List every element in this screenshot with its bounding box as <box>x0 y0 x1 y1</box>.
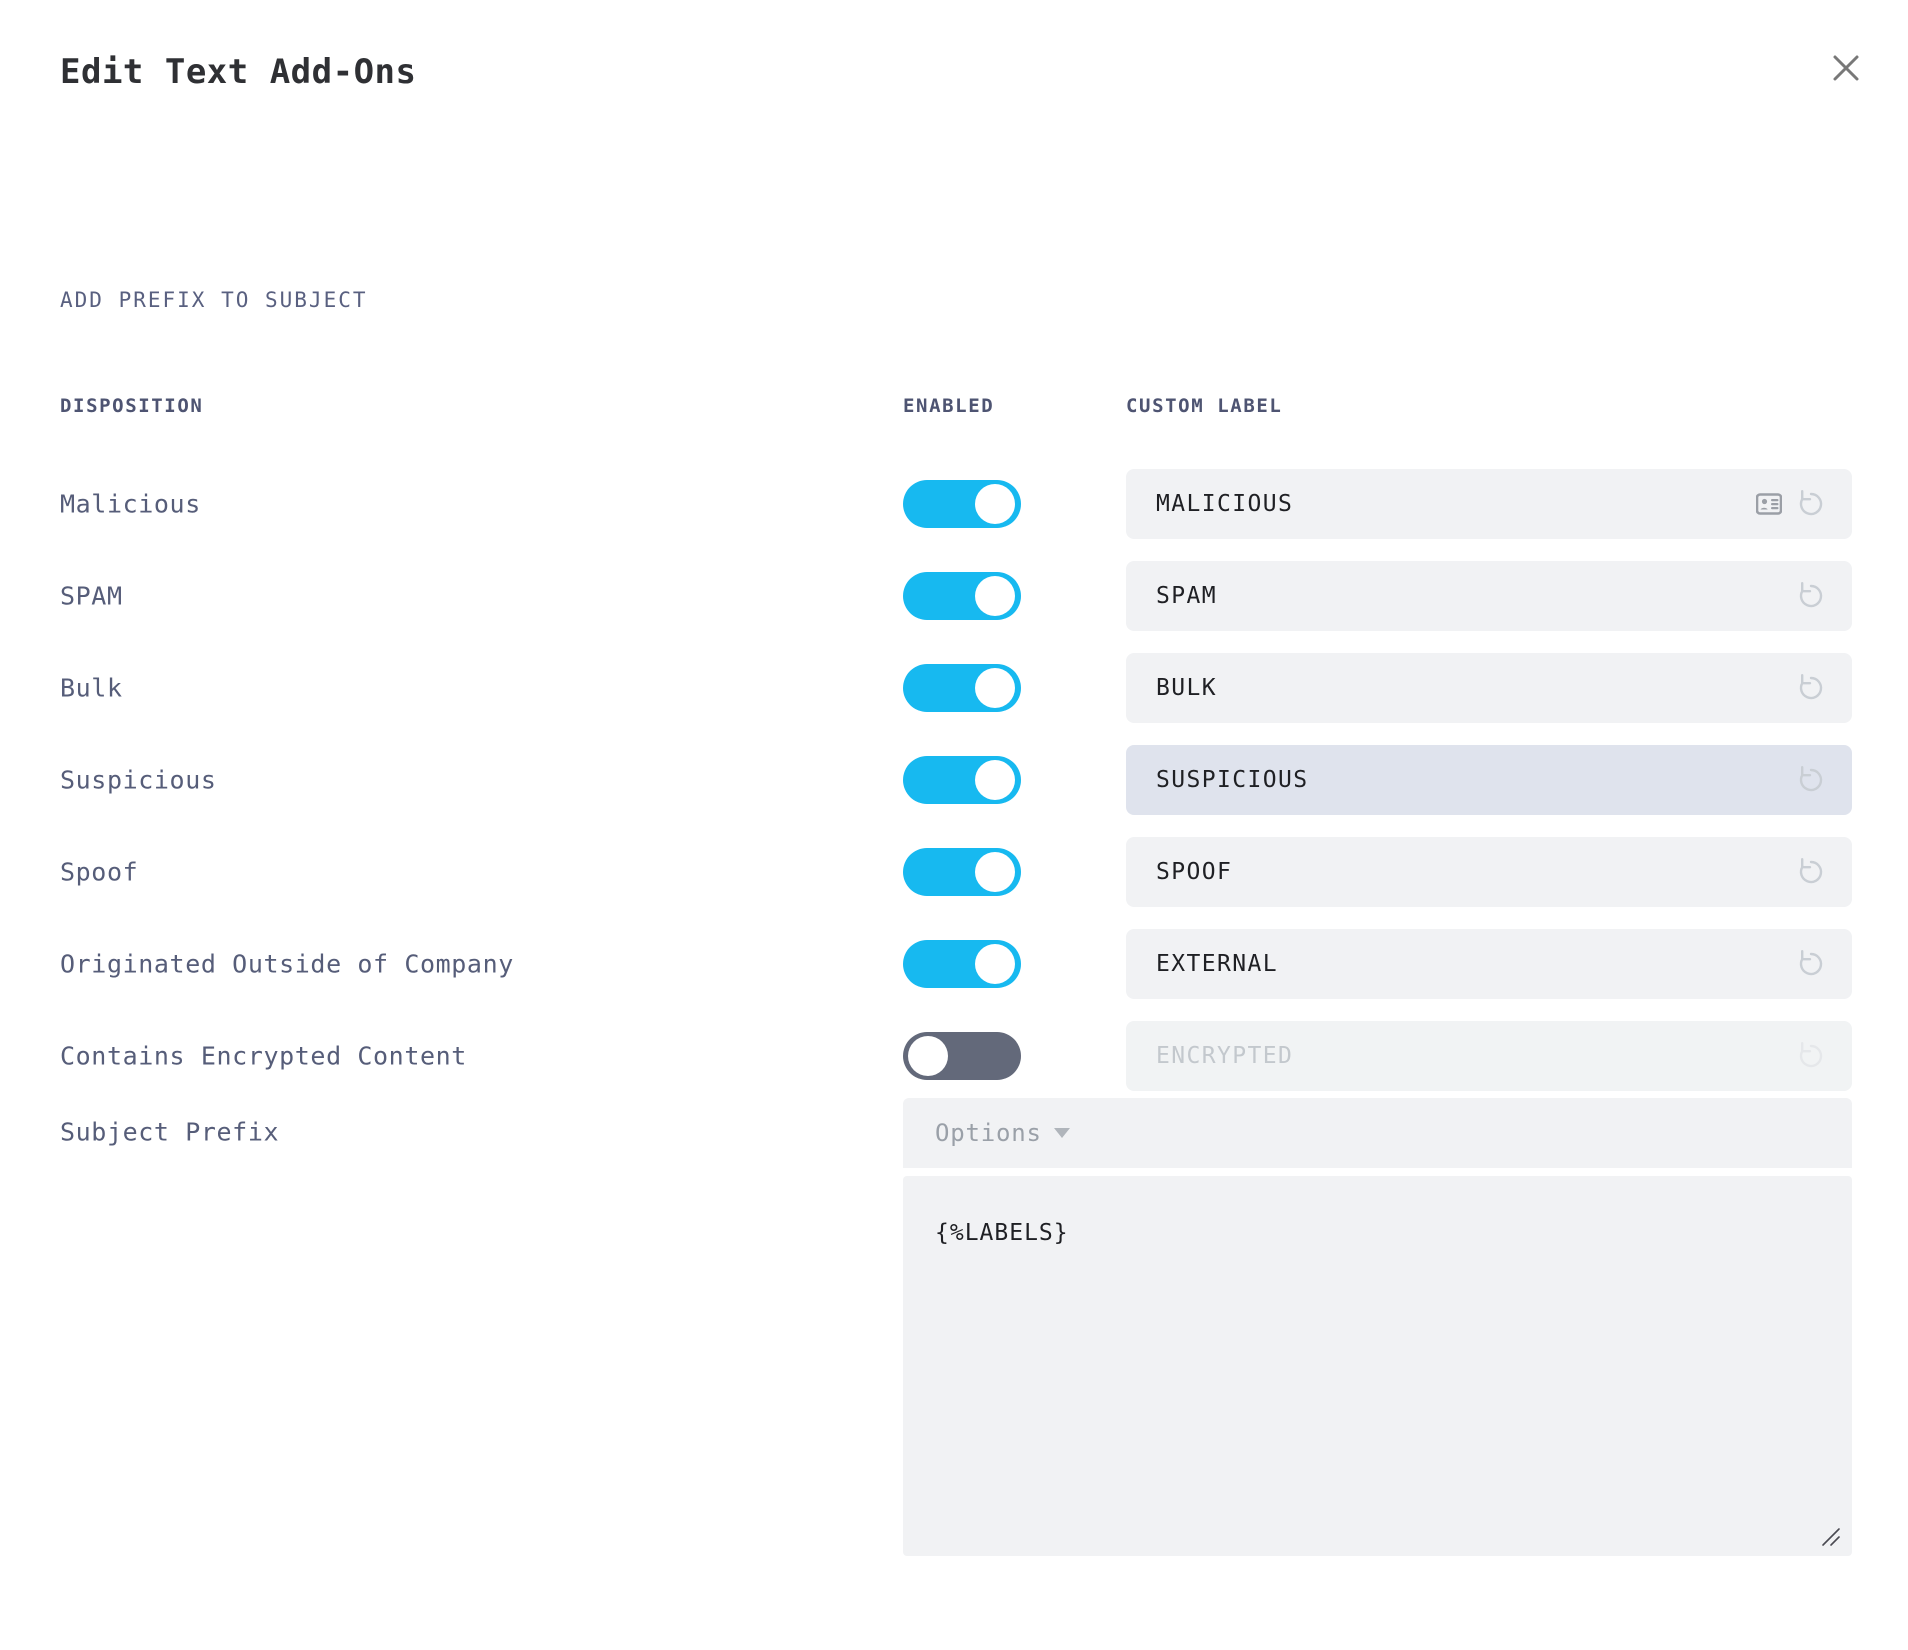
column-header-enabled: ENABLED <box>903 395 994 417</box>
resize-grip-icon[interactable] <box>1820 1526 1842 1548</box>
close-button[interactable] <box>1818 40 1874 96</box>
column-header-disposition: DISPOSITION <box>60 395 203 417</box>
toggle-knob <box>975 944 1015 984</box>
table-row: SuspiciousSUSPICIOUS <box>0 734 1908 826</box>
section-heading: ADD PREFIX TO SUBJECT <box>60 288 368 312</box>
enabled-toggle[interactable] <box>903 572 1021 620</box>
custom-label-value: SUSPICIOUS <box>1126 767 1794 793</box>
custom-label-value: SPOOF <box>1126 859 1794 885</box>
disposition-label: Bulk <box>60 674 123 703</box>
table-row: SpoofSPOOF <box>0 826 1908 918</box>
edit-text-addons-dialog: Edit Text Add-Ons ADD PREFIX TO SUBJECT … <box>0 0 1908 1650</box>
chevron-down-icon <box>1054 1128 1070 1138</box>
toggle-knob <box>975 760 1015 800</box>
custom-label-value: EXTERNAL <box>1126 951 1794 977</box>
disposition-label: Suspicious <box>60 766 217 795</box>
field-icon-group <box>1794 671 1852 705</box>
subject-prefix-label: Subject Prefix <box>60 1118 279 1147</box>
custom-label-input[interactable]: SPAM <box>1126 561 1852 631</box>
table-row: BulkBULK <box>0 642 1908 734</box>
disposition-label: SPAM <box>60 582 123 611</box>
table-row: Originated Outside of CompanyEXTERNAL <box>0 918 1908 1010</box>
reset-icon[interactable] <box>1794 671 1828 705</box>
toggle-knob <box>908 1036 948 1076</box>
custom-label-input[interactable]: MALICIOUS <box>1126 469 1852 539</box>
enabled-toggle[interactable] <box>903 756 1021 804</box>
reset-icon[interactable] <box>1794 579 1828 613</box>
field-icon-group <box>1794 1039 1852 1073</box>
disposition-label: Contains Encrypted Content <box>60 1042 467 1071</box>
custom-label-input: ENCRYPTED <box>1126 1021 1852 1091</box>
custom-label-input[interactable]: BULK <box>1126 653 1852 723</box>
toggle-knob <box>975 668 1015 708</box>
custom-label-value: BULK <box>1126 675 1794 701</box>
enabled-toggle[interactable] <box>903 664 1021 712</box>
column-header-custom-label: CUSTOM LABEL <box>1126 395 1282 417</box>
subject-prefix-input[interactable]: {%LABELS} <box>903 1176 1852 1556</box>
custom-label-value: ENCRYPTED <box>1126 1043 1794 1069</box>
reset-icon[interactable] <box>1794 947 1828 981</box>
custom-label-input[interactable]: EXTERNAL <box>1126 929 1852 999</box>
disposition-label: Spoof <box>60 858 138 887</box>
table-row: MaliciousMALICIOUS <box>0 458 1908 550</box>
enabled-toggle[interactable] <box>903 940 1021 988</box>
options-dropdown-label: Options <box>935 1119 1042 1147</box>
options-dropdown[interactable]: Options <box>903 1098 1852 1168</box>
contact-card-icon[interactable] <box>1756 493 1782 515</box>
table-row: SPAMSPAM <box>0 550 1908 642</box>
toggle-knob <box>975 852 1015 892</box>
custom-label-input[interactable]: SUSPICIOUS <box>1126 745 1852 815</box>
toggle-knob <box>975 576 1015 616</box>
disposition-label: Malicious <box>60 490 201 519</box>
custom-label-value: SPAM <box>1126 583 1794 609</box>
reset-icon[interactable] <box>1794 855 1828 889</box>
toggle-knob <box>975 484 1015 524</box>
field-icon-group <box>1756 487 1852 521</box>
enabled-toggle[interactable] <box>903 480 1021 528</box>
page-title: Edit Text Add-Ons <box>60 52 417 92</box>
custom-label-value: MALICIOUS <box>1126 491 1756 517</box>
close-icon <box>1831 53 1861 83</box>
reset-icon[interactable] <box>1794 763 1828 797</box>
custom-label-input[interactable]: SPOOF <box>1126 837 1852 907</box>
enabled-toggle[interactable] <box>903 848 1021 896</box>
field-icon-group <box>1794 855 1852 889</box>
subject-prefix-value: {%LABELS} <box>935 1220 1069 1246</box>
enabled-toggle[interactable] <box>903 1032 1021 1080</box>
reset-icon <box>1794 1039 1828 1073</box>
field-icon-group <box>1794 947 1852 981</box>
reset-icon[interactable] <box>1794 487 1828 521</box>
disposition-label: Originated Outside of Company <box>60 950 514 979</box>
field-icon-group <box>1794 579 1852 613</box>
field-icon-group <box>1794 763 1852 797</box>
